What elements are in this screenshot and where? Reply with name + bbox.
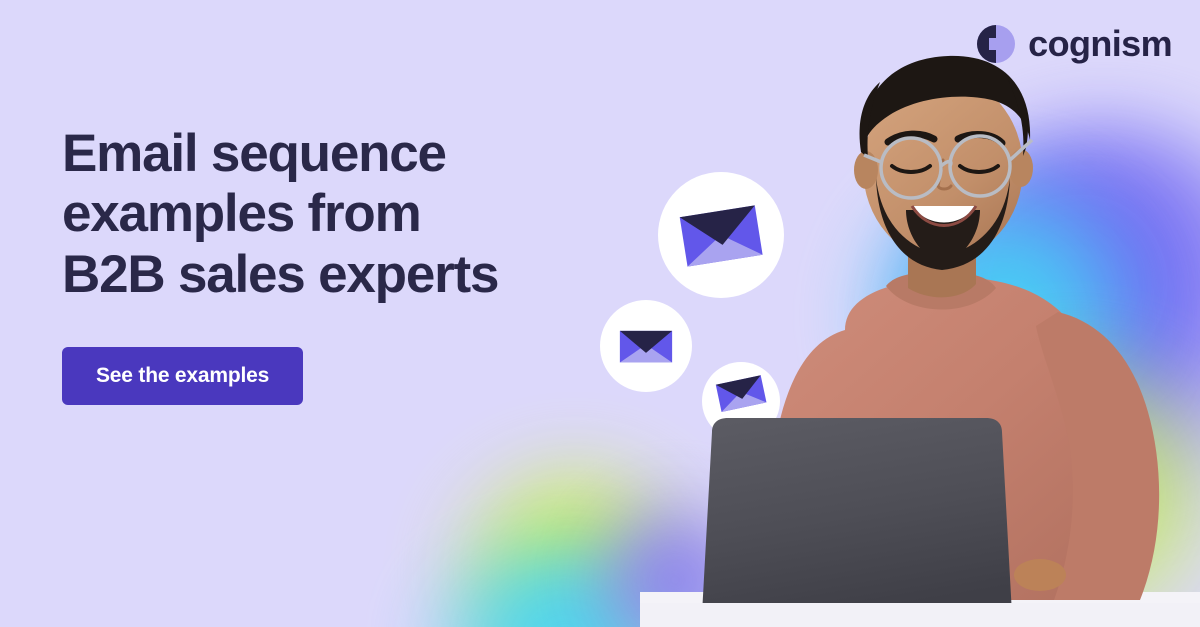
ear-right [1009,149,1033,187]
cognism-logo-mark-icon [976,24,1016,64]
brand-wordmark: cognism [1028,26,1172,62]
envelope-badge-large [658,172,784,298]
see-the-examples-button[interactable]: See the examples [62,347,303,405]
hero-copy: Email sequence examples from B2B sales e… [62,124,602,405]
brand-logo[interactable]: cognism [976,24,1172,64]
envelope-icon-medium [613,313,679,379]
envelope-icon-small [712,364,770,422]
page-title: Email sequence examples from B2B sales e… [62,124,602,305]
desk-surface [640,603,1200,627]
envelope-badge-medium [600,300,692,392]
promotional-banner: cognism Email sequence examples from B2B… [0,0,1200,627]
laptop [692,418,1022,627]
laptop-lid [692,418,1022,627]
envelope-icon-large [673,187,769,283]
